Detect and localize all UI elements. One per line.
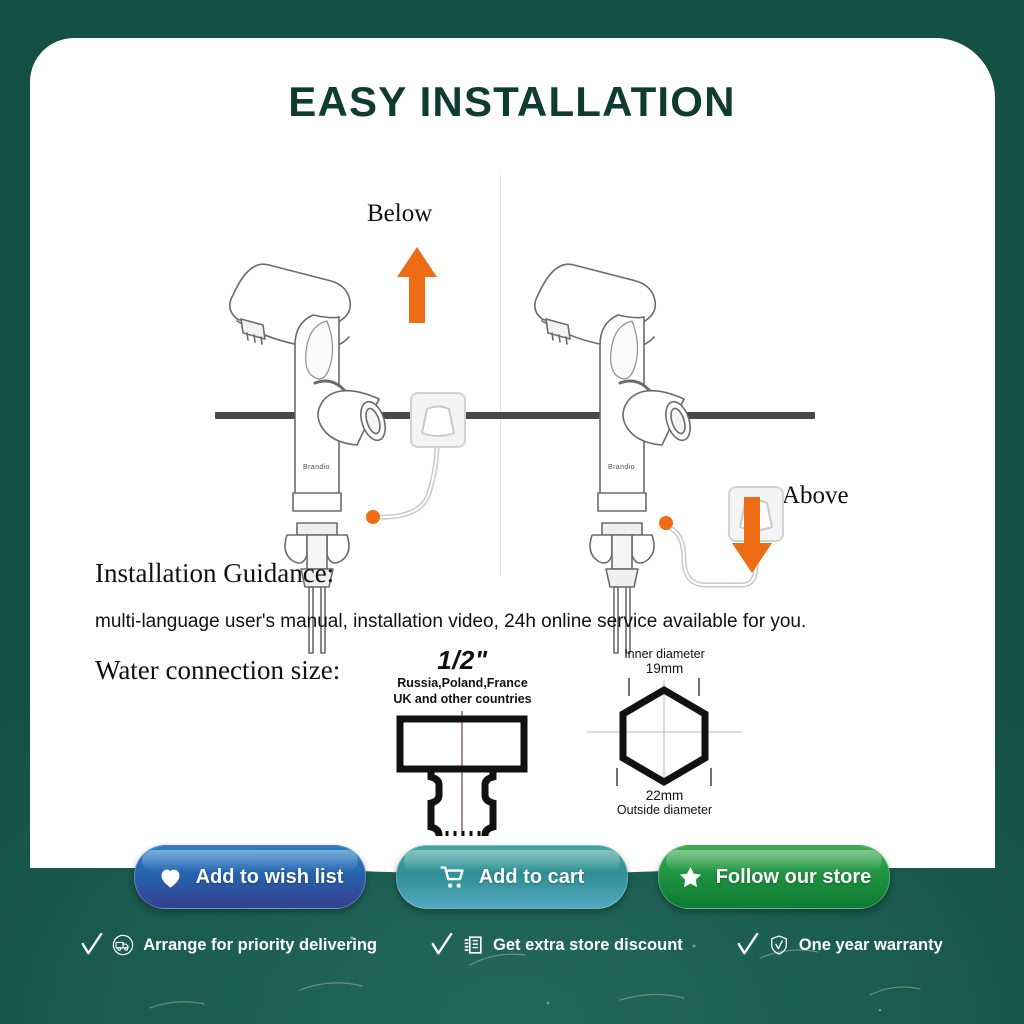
add-to-wish-list-label: Add to wish list — [196, 866, 344, 889]
feature-label: One year warranty — [799, 936, 943, 955]
feature-priority-delivering: Arrange for priority delivering — [81, 933, 377, 957]
page-title: EASY INSTALLATION — [0, 78, 1024, 126]
fitting-countries-line2: UK and other countries — [355, 692, 570, 708]
check-icon — [81, 933, 103, 957]
svg-text:Brandio: Brandio — [608, 464, 635, 471]
feature-label: Get extra store discount — [493, 936, 683, 955]
svg-text:Brandio: Brandio — [303, 464, 330, 471]
heart-icon — [157, 864, 184, 891]
hex-nut-diagram: Inner diameter 19mm 22mm Outside diamete… — [577, 647, 752, 817]
installation-guidance-heading: Installation Guidance: — [95, 558, 925, 589]
water-connection-size-diagrams: 1/2" Russia,Poland,France UK and other c… — [355, 645, 755, 845]
fitting-countries-line1: Russia,Poland,France — [355, 676, 570, 692]
shopping-cart-icon — [440, 864, 467, 891]
cable-connection-point — [366, 510, 380, 524]
feature-store-discount: Get extra store discount — [431, 933, 683, 957]
hex-outside-diameter-value: 22mm — [577, 788, 752, 803]
hex-shape-icon — [577, 676, 752, 788]
feature-label: Arrange for priority delivering — [143, 936, 377, 955]
add-to-wish-list-button[interactable]: Add to wish list — [134, 845, 366, 909]
follow-our-store-button[interactable]: Follow our store — [658, 845, 890, 909]
installation-guidance-body: multi-language user's manual, installati… — [95, 611, 925, 633]
shield-icon — [768, 934, 790, 956]
check-icon — [737, 933, 759, 957]
hex-outside-diameter-label: Outside diameter — [577, 803, 752, 817]
add-to-cart-label: Add to cart — [479, 866, 585, 889]
fitting-shape-icon — [355, 711, 570, 836]
hex-inner-diameter-value: 19mm — [577, 661, 752, 676]
fitting-diagram: 1/2" Russia,Poland,France UK and other c… — [355, 645, 570, 836]
hex-inner-diameter-label: Inner diameter — [577, 647, 752, 661]
delivery-truck-icon — [112, 934, 134, 956]
arrow-up-icon — [395, 245, 439, 325]
feature-one-year-warranty: One year warranty — [737, 933, 943, 957]
star-icon — [677, 864, 704, 891]
label-below: Below — [367, 200, 432, 228]
cable-connection-point — [659, 516, 673, 530]
cta-button-row: Add to wish list Add to cart Follow our … — [0, 845, 1024, 907]
fitting-size-label: 1/2" — [355, 645, 570, 676]
features-row: Arrange for priority delivering Get extr… — [0, 925, 1024, 965]
add-to-cart-button[interactable]: Add to cart — [396, 845, 628, 909]
installation-diagram: Below Above Brandio — [30, 150, 995, 580]
check-icon — [431, 933, 453, 957]
follow-our-store-label: Follow our store — [716, 866, 872, 889]
discount-tag-icon — [462, 934, 484, 956]
